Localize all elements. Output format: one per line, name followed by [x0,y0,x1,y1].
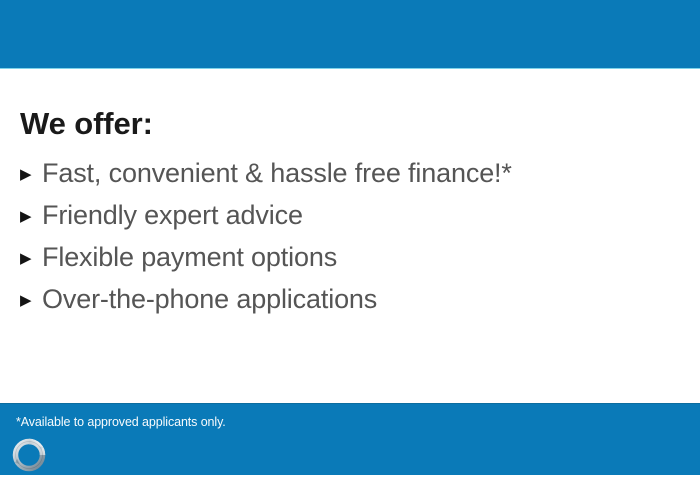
top-banner-edge-highlight [0,68,700,69]
list-item: ▶ Over-the-phone applications [20,285,680,314]
list-item-label: Fast, convenient & hassle free finance!* [42,159,512,188]
offer-bullet-list: ▶ Fast, convenient & hassle free finance… [20,159,680,315]
list-item: ▶ Flexible payment options [20,243,680,272]
slide-canvas: We offer: ▶ Fast, convenient & hassle fr… [0,0,700,475]
list-item: ▶ Fast, convenient & hassle free finance… [20,159,680,188]
list-item: ▶ Friendly expert advice [20,201,680,230]
footer-edge-line [0,403,700,404]
triangle-bullet-icon: ▶ [20,167,42,182]
circular-ring-logo-icon [12,438,46,472]
list-item-label: Friendly expert advice [42,201,303,230]
triangle-bullet-icon: ▶ [20,209,42,224]
slide-content: We offer: ▶ Fast, convenient & hassle fr… [20,108,680,328]
list-item-label: Flexible payment options [42,243,337,272]
list-item-label: Over-the-phone applications [42,285,377,314]
triangle-bullet-icon: ▶ [20,293,42,308]
bottom-blue-footer: *Available to approved applicants only. [0,403,700,475]
footnote-disclaimer: *Available to approved applicants only. [16,415,226,429]
triangle-bullet-icon: ▶ [20,251,42,266]
top-blue-banner [0,0,700,68]
page-title: We offer: [20,108,680,139]
